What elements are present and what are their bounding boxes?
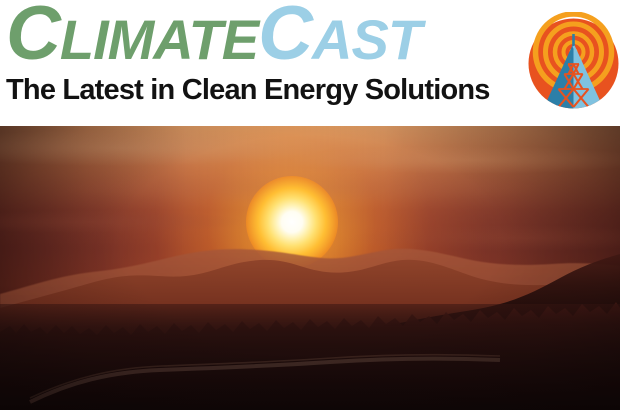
site-wordmark: CLIMATECAST: [6, 0, 421, 72]
photo-vignette: [0, 126, 620, 410]
broadcast-tower-icon: [527, 12, 620, 115]
wordmark-c1: C: [6, 0, 60, 76]
wordmark-ast: AST: [312, 8, 421, 71]
masthead-header: CLIMATECAST The Latest in Clean Energy S…: [0, 0, 620, 126]
site-tagline: The Latest in Clean Energy Solutions: [6, 76, 490, 105]
wordmark-limate: LIMATE: [60, 8, 258, 71]
wordmark-c2: C: [258, 0, 312, 76]
climatecast-banner: CLIMATECAST The Latest in Clean Energy S…: [0, 0, 620, 410]
sunset-wildfire-photo: [0, 126, 620, 410]
